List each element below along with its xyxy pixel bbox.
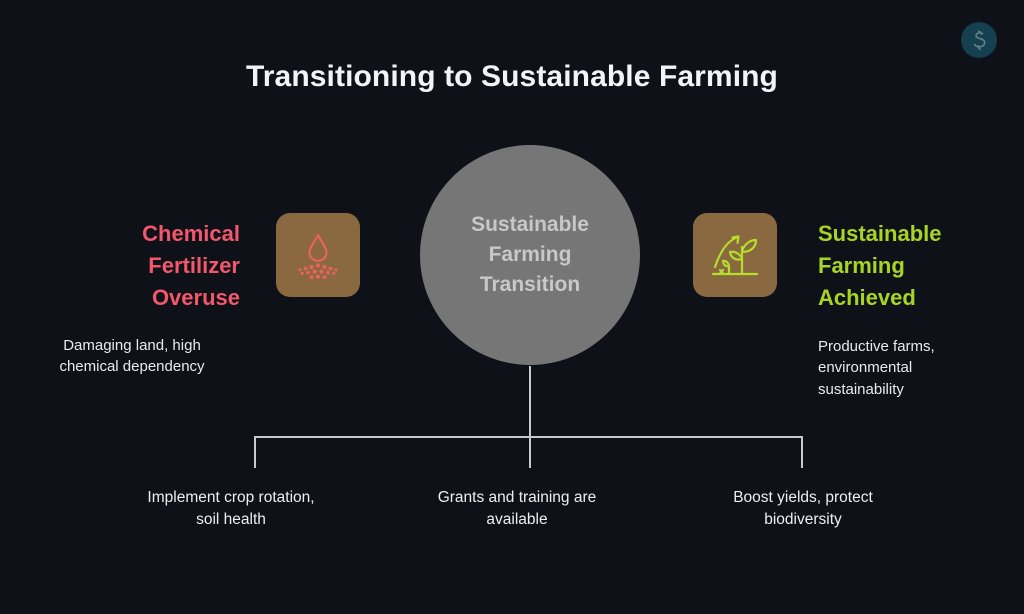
- bottom-item-label: Grants and training are available: [387, 487, 647, 532]
- slide-canvas: Transitioning to Sustainable Farming Sus…: [0, 0, 1024, 614]
- right-stage-text: Sustainable Farming Achieved Productive …: [818, 218, 1014, 401]
- left-stage-heading: Chemical Fertilizer Overuse: [24, 218, 240, 314]
- left-stage-text: Chemical Fertilizer Overuse Damaging lan…: [24, 218, 240, 378]
- brand-logo[interactable]: [961, 22, 997, 58]
- left-stage-icon-tile[interactable]: [276, 213, 360, 297]
- right-stage-heading: Sustainable Farming Achieved: [818, 218, 1014, 314]
- right-stage-body: Productive farms, environmental sustaina…: [818, 336, 1014, 401]
- right-stage-icon-tile[interactable]: [693, 213, 777, 297]
- left-stage-body: Damaging land, high chemical dependency: [24, 335, 240, 379]
- plant-growth-icon: [707, 227, 763, 283]
- bottom-item-label: Implement crop rotation, soil health: [101, 487, 361, 532]
- fertilizer-droplet-icon: [290, 227, 346, 283]
- center-node[interactable]: Sustainable Farming Transition: [420, 145, 640, 365]
- bottom-item-label: Boost yields, protect biodiversity: [673, 487, 933, 532]
- center-node-label: Sustainable Farming Transition: [471, 210, 589, 299]
- page-title: Transitioning to Sustainable Farming: [0, 60, 1024, 94]
- logo-monogram-icon: [966, 27, 992, 53]
